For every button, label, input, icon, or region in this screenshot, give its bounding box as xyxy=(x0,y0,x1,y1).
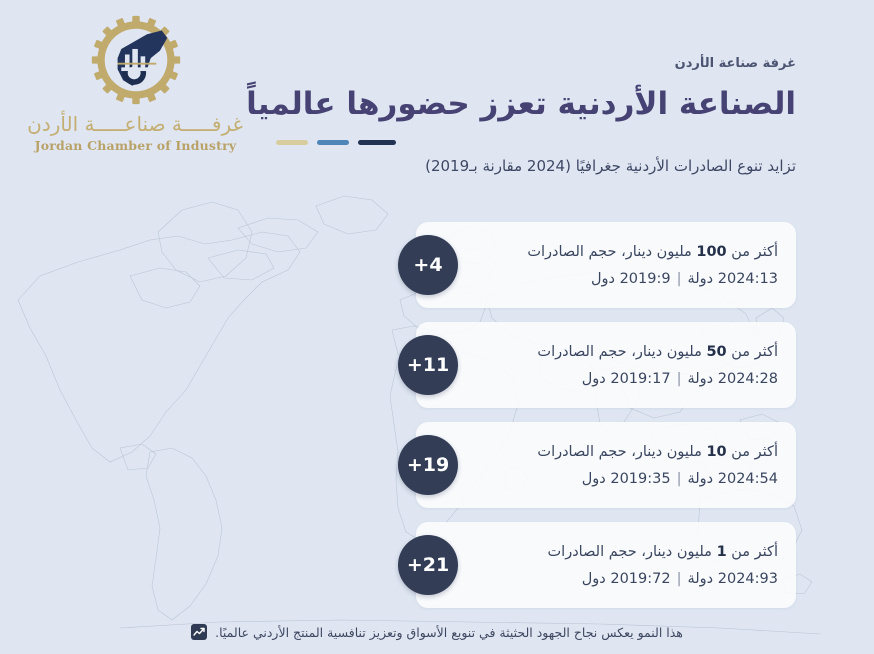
stat-2024: 2024:54 دولة xyxy=(687,471,778,487)
stat-card-text: أكثر من 10 مليون دينار، حجم الصادرات 202… xyxy=(494,443,778,488)
stat-card-detail: 2024:93 دولة|2019:72 دول xyxy=(494,571,778,587)
footer: هذا النمو يعكس نجاح الجهود الحثيثة في تن… xyxy=(0,624,874,640)
stat-delta-badge: +4 xyxy=(398,235,458,295)
stat-card-detail: 2024:13 دولة|2019:9 دول xyxy=(494,271,778,287)
stat-card: أكثر من 10 مليون دينار، حجم الصادرات 202… xyxy=(416,422,796,508)
stat-separator: | xyxy=(671,271,688,287)
stat-card-text: أكثر من 1 مليون دينار، حجم الصادرات 2024… xyxy=(494,543,778,588)
stat-threshold-value: 100 xyxy=(696,244,726,260)
stat-separator: | xyxy=(671,371,688,387)
stat-2019: 2019:72 دول xyxy=(582,571,671,587)
stat-suffix: مليون دينار، حجم الصادرات xyxy=(527,244,696,260)
header: غرفة صناعة الأردن الصناعة الأردنية تعزز … xyxy=(276,56,796,175)
stat-card-headline: أكثر من 50 مليون دينار، حجم الصادرات xyxy=(494,343,778,363)
accent-rule-navy xyxy=(358,140,396,145)
stat-threshold-value: 1 xyxy=(717,544,727,560)
stat-separator: | xyxy=(671,471,688,487)
stat-card-detail: 2024:28 دولة|2019:17 دول xyxy=(494,371,778,387)
stat-card-list: أكثر من 100 مليون دينار، حجم الصادرات 20… xyxy=(416,222,796,608)
jordan-chamber-of-industry-emblem-icon xyxy=(90,14,182,106)
stat-delta-badge: +21 xyxy=(398,535,458,595)
stat-prefix: أكثر من xyxy=(727,244,778,260)
stat-2019: 2019:9 دول xyxy=(591,271,671,287)
stat-card-text: أكثر من 100 مليون دينار، حجم الصادرات 20… xyxy=(494,243,778,288)
stat-suffix: مليون دينار، حجم الصادرات xyxy=(548,544,717,560)
trending-up-chart-icon xyxy=(191,624,207,640)
logo-english-name: Jordan Chamber of Industry xyxy=(28,138,243,153)
accent-rule-blue xyxy=(317,140,349,145)
stat-prefix: أكثر من xyxy=(727,344,778,360)
stat-2024: 2024:28 دولة xyxy=(687,371,778,387)
stat-suffix: مليون دينار، حجم الصادرات xyxy=(537,344,706,360)
stat-card-headline: أكثر من 1 مليون دينار، حجم الصادرات xyxy=(494,543,778,563)
stat-2019: 2019:17 دول xyxy=(582,371,671,387)
stat-card-detail: 2024:54 دولة|2019:35 دول xyxy=(494,471,778,487)
logo-block: غرفـــــة صناعـــــة الأردن Jordan Chamb… xyxy=(28,14,243,153)
stat-prefix: أكثر من xyxy=(727,544,778,560)
stat-card-text: أكثر من 50 مليون دينار، حجم الصادرات 202… xyxy=(494,343,778,388)
stat-separator: | xyxy=(671,571,688,587)
stat-delta-badge: +11 xyxy=(398,335,458,395)
stat-suffix: مليون دينار، حجم الصادرات xyxy=(537,444,706,460)
accent-rules xyxy=(276,140,796,145)
stat-delta-badge: +19 xyxy=(398,435,458,495)
stat-prefix: أكثر من xyxy=(727,444,778,460)
accent-rule-gold xyxy=(276,140,308,145)
stat-card-headline: أكثر من 100 مليون دينار، حجم الصادرات xyxy=(494,243,778,263)
page-title: الصناعة الأردنية تعزز حضورها عالمياً xyxy=(276,85,796,124)
stat-threshold-value: 50 xyxy=(706,344,726,360)
stat-card: أكثر من 50 مليون دينار، حجم الصادرات 202… xyxy=(416,322,796,408)
stat-2019: 2019:35 دول xyxy=(582,471,671,487)
stat-threshold-value: 10 xyxy=(706,444,726,460)
stat-2024: 2024:13 دولة xyxy=(687,271,778,287)
page-subtitle: تزايد تنوع الصادرات الأردنية جغرافيًا (2… xyxy=(276,157,796,175)
stat-card: أكثر من 1 مليون دينار، حجم الصادرات 2024… xyxy=(416,522,796,608)
logo-arabic-name: غرفـــــة صناعـــــة الأردن xyxy=(28,112,243,136)
header-eyebrow: غرفة صناعة الأردن xyxy=(276,56,796,71)
footer-note: هذا النمو يعكس نجاح الجهود الحثيثة في تن… xyxy=(215,625,683,640)
stat-2024: 2024:93 دولة xyxy=(687,571,778,587)
stat-card: أكثر من 100 مليون دينار، حجم الصادرات 20… xyxy=(416,222,796,308)
infographic-canvas: غرفـــــة صناعـــــة الأردن Jordan Chamb… xyxy=(0,0,874,654)
stat-card-headline: أكثر من 10 مليون دينار، حجم الصادرات xyxy=(494,443,778,463)
